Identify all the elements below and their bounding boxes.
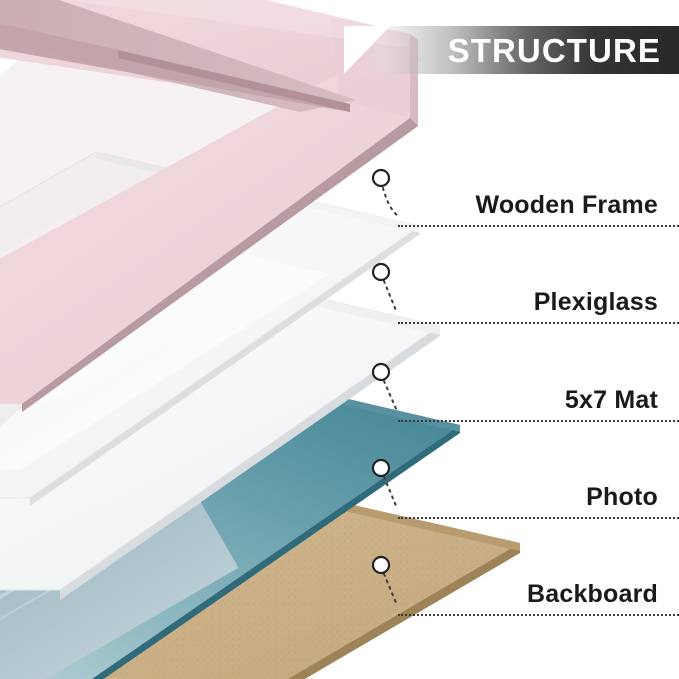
callout-label-mat: 5x7 Mat [565, 388, 658, 413]
structure-banner: STRUCTURE [344, 26, 679, 74]
callout-backboard: Backboard [398, 554, 658, 616]
callout-rule-plexiglass [398, 322, 679, 324]
callout-label-backboard: Backboard [527, 582, 658, 607]
callout-photo: Photo [398, 457, 658, 519]
callout-rule-wooden-frame [398, 225, 679, 227]
callout-wooden-frame: Wooden Frame [398, 165, 658, 227]
callout-rule-photo [398, 517, 679, 519]
callout-mat: 5x7 Mat [398, 360, 658, 422]
callout-plexiglass: Plexiglass [398, 262, 658, 324]
callout-rule-mat [398, 420, 679, 422]
callout-label-wooden-frame: Wooden Frame [475, 193, 658, 218]
banner-title: STRUCTURE [448, 34, 661, 67]
callout-label-photo: Photo [586, 485, 658, 510]
infographic-canvas: STRUCTURE Wooden Frame Plexiglass 5x7 Ma… [0, 0, 679, 679]
banner-left-wedge [344, 26, 390, 74]
callout-rule-backboard [398, 614, 679, 616]
callout-label-plexiglass: Plexiglass [534, 290, 658, 315]
